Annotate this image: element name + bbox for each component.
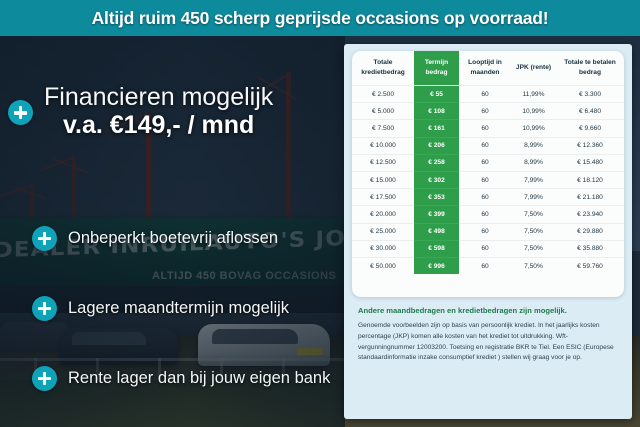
table-cell: € 353: [414, 189, 459, 206]
feature-label: Lagere maandtermijn mogelijk: [68, 299, 289, 318]
table-cell: € 258: [414, 154, 459, 171]
table-cell: € 6.480: [556, 103, 624, 120]
table-cell: 60: [459, 103, 511, 120]
table-cell: € 2.500: [352, 86, 414, 103]
left-content-column: Financieren mogelijk v.a. €149,- / mnd O…: [0, 36, 345, 427]
table-row: € 50.000€ 996607,50%€ 59.760: [352, 257, 624, 274]
table-row: € 5.000€ 1086010,99%€ 6.480: [352, 103, 624, 120]
table-cell: 7,99%: [511, 189, 556, 206]
column-header-totale-kredietbedrag: Totale kredietbedrag: [352, 51, 414, 86]
table-cell: 7,99%: [511, 172, 556, 189]
table-cell: € 399: [414, 206, 459, 223]
table-row: € 17.500€ 353607,99%€ 21.180: [352, 189, 624, 206]
table-cell: 60: [459, 257, 511, 274]
table-row: € 20.000€ 399607,50%€ 23.940: [352, 206, 624, 223]
plus-icon: [8, 100, 33, 125]
table-cell: 60: [459, 137, 511, 154]
table-cell: € 59.760: [556, 257, 624, 274]
table-cell: 10,99%: [511, 103, 556, 120]
table-row: € 30.000€ 598607,50%€ 35.880: [352, 240, 624, 257]
feature-item-1: Lagere maandtermijn mogelijk: [32, 296, 289, 321]
table-cell: 60: [459, 154, 511, 171]
table-cell: € 996: [414, 257, 459, 274]
table-cell: 8,99%: [511, 154, 556, 171]
table-cell: € 23.940: [556, 206, 624, 223]
table-cell: € 108: [414, 103, 459, 120]
rate-table-card: Totale kredietbedrag Termijn bedrag Loop…: [352, 51, 624, 297]
table-cell: € 55: [414, 86, 459, 103]
column-header-totale-te-betalen: Totale te betalen bedrag: [556, 51, 624, 86]
table-cell: 7,50%: [511, 206, 556, 223]
table-cell: 10,99%: [511, 120, 556, 137]
feature-item-2: Rente lager dan bij jouw eigen bank: [32, 366, 330, 391]
headline-line-1: Financieren mogelijk: [44, 84, 273, 110]
feature-label: Rente lager dan bij jouw eigen bank: [68, 369, 330, 388]
table-cell: 60: [459, 120, 511, 137]
table-cell: € 20.000: [352, 206, 414, 223]
table-cell: € 25.000: [352, 223, 414, 240]
table-row: € 2.500€ 556011,99%€ 3.300: [352, 86, 624, 103]
table-cell: € 50.000: [352, 257, 414, 274]
table-cell: € 29.880: [556, 223, 624, 240]
table-cell: 11,99%: [511, 86, 556, 103]
column-header-looptijd: Looptijd in maanden: [459, 51, 511, 86]
table-header-row: Totale kredietbedrag Termijn bedrag Loop…: [352, 51, 624, 86]
table-cell: 60: [459, 223, 511, 240]
headline-line-2: v.a. €149,- / mnd: [44, 110, 273, 141]
table-cell: € 206: [414, 137, 459, 154]
table-cell: € 15.480: [556, 154, 624, 171]
table-cell: 60: [459, 172, 511, 189]
table-cell: € 17.500: [352, 189, 414, 206]
promo-banner-image: Altijd ruim 450 scherp geprijsde occasio…: [0, 0, 640, 427]
table-cell: 8,99%: [511, 137, 556, 154]
rate-table: Totale kredietbedrag Termijn bedrag Loop…: [352, 51, 624, 274]
table-cell: 60: [459, 240, 511, 257]
legal-footnote: Andere maandbedragen en kredietbedragen …: [358, 306, 620, 364]
table-cell: € 15.000: [352, 172, 414, 189]
table-cell: € 12.500: [352, 154, 414, 171]
table-cell: € 498: [414, 223, 459, 240]
table-cell: € 161: [414, 120, 459, 137]
table-cell: 60: [459, 206, 511, 223]
table-row: € 7.500€ 1616010,99%€ 9.660: [352, 120, 624, 137]
table-cell: € 5.000: [352, 103, 414, 120]
table-cell: € 10.000: [352, 137, 414, 154]
table-row: € 10.000€ 206608,99%€ 12.360: [352, 137, 624, 154]
column-header-termijn-bedrag: Termijn bedrag: [414, 51, 459, 86]
table-row: € 12.500€ 258608,99%€ 15.480: [352, 154, 624, 171]
feature-financing-headline: Financieren mogelijk v.a. €149,- / mnd: [8, 84, 273, 142]
feature-label: Onbeperkt boetevrij aflossen: [68, 229, 278, 248]
table-cell: € 30.000: [352, 240, 414, 257]
table-cell: 7,50%: [511, 223, 556, 240]
table-cell: € 21.180: [556, 189, 624, 206]
column-header-jkp: JPK (rente): [511, 51, 556, 86]
table-cell: € 18.120: [556, 172, 624, 189]
table-cell: € 35.880: [556, 240, 624, 257]
banner-headline: Altijd ruim 450 scherp geprijsde occasio…: [92, 8, 549, 29]
footnote-body: Genoemde voorbeelden zijn op basis van p…: [358, 321, 620, 365]
table-cell: 7,50%: [511, 240, 556, 257]
plus-icon: [32, 296, 57, 321]
table-cell: € 3.300: [556, 86, 624, 103]
top-banner: Altijd ruim 450 scherp geprijsde occasio…: [0, 0, 640, 36]
feature-item-0: Onbeperkt boetevrij aflossen: [32, 226, 278, 251]
plus-icon: [32, 226, 57, 251]
table-cell: 60: [459, 189, 511, 206]
table-cell: € 7.500: [352, 120, 414, 137]
table-cell: 60: [459, 86, 511, 103]
table-cell: € 9.660: [556, 120, 624, 137]
footnote-heading: Andere maandbedragen en kredietbedragen …: [358, 306, 620, 316]
plus-icon: [32, 366, 57, 391]
rate-panel: Totale kredietbedrag Termijn bedrag Loop…: [344, 44, 632, 419]
rate-table-body: € 2.500€ 556011,99%€ 3.300€ 5.000€ 10860…: [352, 86, 624, 275]
table-cell: € 12.360: [556, 137, 624, 154]
table-cell: € 598: [414, 240, 459, 257]
table-row: € 15.000€ 302607,99%€ 18.120: [352, 172, 624, 189]
table-cell: € 302: [414, 172, 459, 189]
table-cell: 7,50%: [511, 257, 556, 274]
table-row: € 25.000€ 498607,50%€ 29.880: [352, 223, 624, 240]
